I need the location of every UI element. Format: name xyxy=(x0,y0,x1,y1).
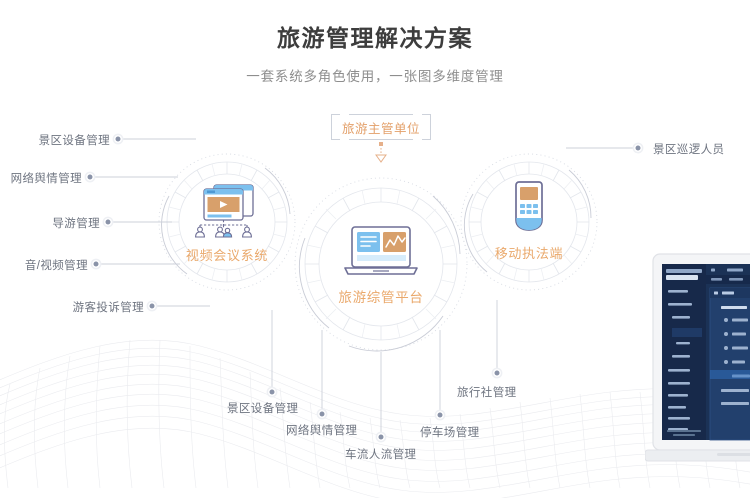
connector-label-bottom-4: 旅行社管理 xyxy=(457,384,517,400)
connector-label-left-1: 网络舆情管理 xyxy=(0,170,82,186)
connector-label-left-0: 景区设备管理 xyxy=(0,132,110,148)
node-mobile-enforcement[interactable]: 移动执法端 xyxy=(469,180,589,262)
handheld-terminal-icon xyxy=(507,180,551,236)
page-subtitle: 一套系统多角色使用，一张图多维度管理 xyxy=(0,67,750,87)
node-label-tourism-platform: 旅游综管平台 xyxy=(321,286,441,306)
background-wave-mesh xyxy=(0,288,750,498)
authority-badge: 旅游主管单位 xyxy=(331,114,431,140)
node-label-mobile-enforcement: 移动执法端 xyxy=(469,243,589,262)
connector-label-bottom-2: 车流人流管理 xyxy=(345,446,416,462)
badge-down-arrow-icon xyxy=(371,142,391,164)
node-label-video-conference: 视频会议系统 xyxy=(167,245,287,264)
connector-label-left-4: 游客投诉管理 xyxy=(0,299,144,315)
laptop-product-preview[interactable] xyxy=(645,252,750,498)
infographic-canvas: 旅游管理解决方案 一套系统多角色使用，一张图多维度管理 xyxy=(0,0,750,498)
node-tourism-platform[interactable]: 旅游综管平台 xyxy=(321,225,441,306)
laptop-dashboard-icon xyxy=(339,225,423,279)
connector-label-bottom-1: 网络舆情管理 xyxy=(286,422,357,438)
connector-label-bottom-0: 景区设备管理 xyxy=(227,400,298,416)
connector-label-bottom-3: 停车场管理 xyxy=(420,424,480,440)
video-window-icon xyxy=(190,180,264,238)
header: 旅游管理解决方案 一套系统多角色使用，一张图多维度管理 xyxy=(0,22,750,87)
page-title: 旅游管理解决方案 xyxy=(0,22,750,54)
connector-label-left-3: 音/视频管理 xyxy=(0,257,88,273)
authority-badge-label: 旅游主管单位 xyxy=(342,118,420,137)
node-video-conference[interactable]: 视频会议系统 xyxy=(167,180,287,264)
connector-label-right-0: 景区巡逻人员 xyxy=(653,141,724,157)
connector-label-left-2: 导游管理 xyxy=(0,215,100,231)
